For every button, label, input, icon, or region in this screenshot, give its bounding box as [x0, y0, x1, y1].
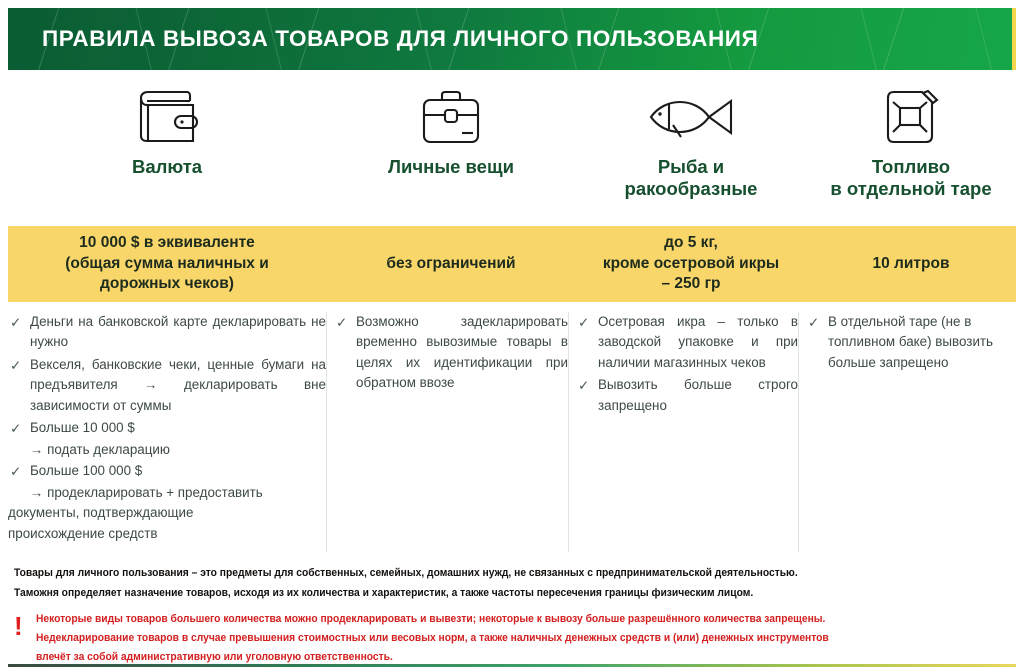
limit-cell-currency: 10 000 $ в эквиваленте (общая сумма нали… [8, 226, 326, 302]
list-item: ✓ Векселя, банковские чеки, ценные бумаг… [8, 355, 326, 416]
list-item: ✓ Больше 100 000 $ [8, 461, 326, 481]
limit-cell-fish: до 5 кг, кроме осетровой икры – 250 гр [576, 226, 806, 302]
limit-cell-fuel: 10 литров [806, 226, 1016, 302]
category-fuel: Топливо в отдельной таре [806, 78, 1016, 218]
limit-text: без ограничений [378, 254, 523, 275]
category-title: Топливо в отдельной таре [830, 156, 991, 200]
details-fuel: ✓ В отдельной таре (не в топливном баке)… [806, 312, 1014, 375]
limit-text: 10 000 $ в эквиваленте (общая сумма нали… [57, 233, 277, 296]
category-personal-items: Личные вещи [326, 78, 576, 218]
header-accent-stripe [1012, 8, 1016, 70]
limit-text: 10 литров [865, 254, 958, 275]
limit-cell-personal-items: без ограничений [326, 226, 576, 302]
jerrycan-icon [878, 78, 944, 156]
footnote-block: Товары для личного пользования – это пре… [14, 566, 1004, 606]
list-item: ✓ В отдельной таре (не в топливном баке)… [806, 312, 1014, 373]
limit-text: до 5 кг, кроме осетровой икры – 250 гр [595, 233, 787, 296]
list-item: ✓ Вывозить больше строго запрещено [576, 375, 798, 416]
category-title-line2: ракообразные [625, 178, 758, 200]
details-fish: ✓ Осетровая икра – только в заводской уп… [576, 312, 798, 418]
check-icon: ✓ [808, 313, 819, 333]
footnote-line-2: Таможня определяет назначение товаров, и… [14, 586, 974, 601]
list-item-text: Больше 10 000 $ [30, 418, 326, 438]
list-item-text: Деньги на банковской карте декларировать… [30, 312, 326, 353]
check-icon: ✓ [578, 313, 589, 333]
list-item-text: В отдельной таре (не в топливном баке) в… [828, 312, 1014, 373]
check-icon: ✓ [578, 376, 589, 396]
bottom-rule [8, 664, 1016, 667]
exclamation-icon: ! [14, 614, 23, 639]
list-item: ✓ Возможно задекларировать временно выво… [334, 312, 568, 394]
wallet-icon [131, 78, 203, 156]
list-item-text: Больше 100 000 $ [30, 461, 326, 481]
category-currency: Валюта [8, 78, 326, 218]
check-icon: ✓ [10, 313, 21, 333]
warning-line-3: влечёт за собой административную или уго… [36, 650, 975, 665]
category-title: Валюта [132, 156, 202, 178]
check-icon: ✓ [10, 462, 21, 482]
category-title-line1: Топливо [830, 156, 991, 178]
limits-band: 10 000 $ в эквиваленте (общая сумма нали… [8, 226, 1016, 302]
category-fish: Рыба и ракообразные [576, 78, 806, 218]
fish-icon [645, 78, 737, 156]
list-item-text: Вывозить больше строго запрещено [598, 375, 798, 416]
warning-block: ! Некоторые виды товаров большего количе… [14, 612, 1004, 669]
list-subitem-text: → подать декларацию [8, 440, 326, 460]
warning-body: Некоторые виды товаров большего количест… [36, 612, 1004, 665]
warning-line-1: Некоторые виды товаров большего количест… [36, 612, 975, 627]
category-title-line1: Валюта [132, 156, 202, 178]
briefcase-icon [412, 78, 490, 156]
list-item-text: Возможно задекларировать временно вывози… [356, 312, 568, 394]
warning-line-2: Недекларирование товаров в случае превыш… [36, 631, 975, 646]
details-currency: ✓ Деньги на банковской карте декларирова… [8, 312, 326, 544]
check-icon: ✓ [336, 313, 347, 333]
category-title-line1: Личные вещи [388, 156, 514, 178]
list-item: ✓ Деньги на банковской карте декларирова… [8, 312, 326, 353]
infographic-page: ПРАВИЛА ВЫВОЗА ТОВАРОВ ДЛЯ ЛИЧНОГО ПОЛЬЗ… [0, 0, 1024, 672]
category-title-line2: в отдельной таре [830, 178, 991, 200]
list-item: ✓ Больше 10 000 $ [8, 418, 326, 438]
details-personal-items: ✓ Возможно задекларировать временно выво… [334, 312, 568, 396]
category-icon-row: Валюта Личные вещи [0, 78, 1024, 218]
list-item-text: Осетровая икра – только в заводской упак… [598, 312, 798, 373]
check-icon: ✓ [10, 419, 21, 439]
page-title: ПРАВИЛА ВЫВОЗА ТОВАРОВ ДЛЯ ЛИЧНОГО ПОЛЬЗ… [42, 26, 758, 52]
check-icon: ✓ [10, 356, 21, 376]
list-item: ✓ Осетровая икра – только в заводской уп… [576, 312, 798, 373]
list-subitem-text: → продекларировать + предоставить [8, 483, 326, 503]
category-title: Личные вещи [388, 156, 514, 178]
footnote-line-1: Товары для личного пользования – это пре… [14, 566, 974, 581]
list-item-text: Векселя, банковские чеки, ценные бумаги … [30, 355, 326, 416]
list-continuation-text: документы, подтверждающие [8, 503, 326, 523]
category-title: Рыба и ракообразные [625, 156, 758, 200]
page-header: ПРАВИЛА ВЫВОЗА ТОВАРОВ ДЛЯ ЛИЧНОГО ПОЛЬЗ… [8, 8, 1016, 70]
list-continuation-text: происхождение средств [8, 524, 326, 544]
category-title-line1: Рыба и [625, 156, 758, 178]
details-columns: ✓ Деньги на банковской карте декларирова… [0, 312, 1024, 560]
